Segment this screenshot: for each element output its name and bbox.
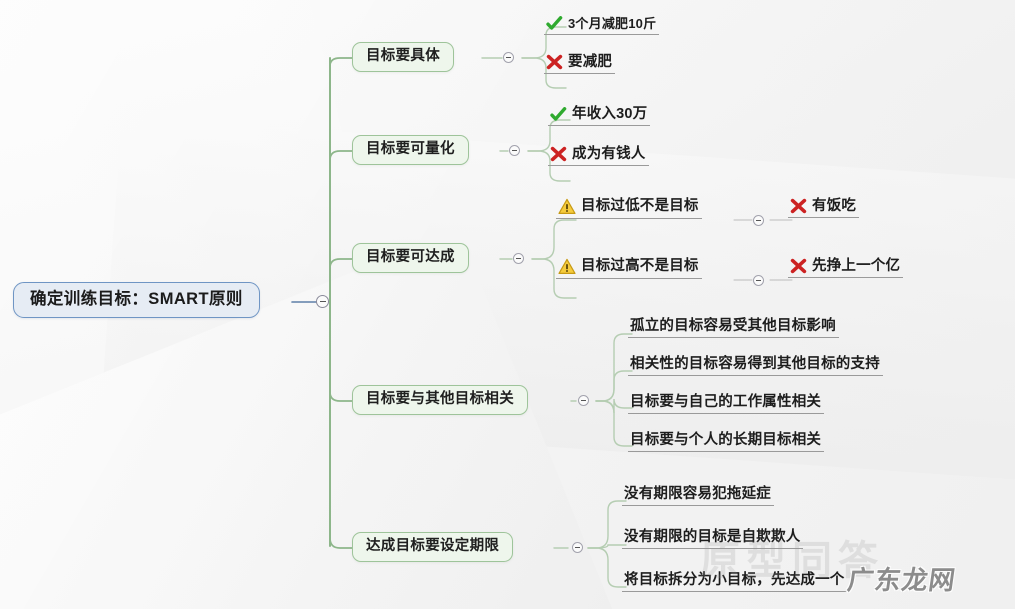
leaf-label: 要减肥 <box>568 55 612 70</box>
leaf-node[interactable]: 有饭吃 <box>788 197 859 218</box>
mindmap-canvas: 确定训练目标：SMART原则 目标要具体 3个月减肥10斤 要减肥 目标要可量化 <box>0 0 1015 609</box>
leaf-node[interactable]: 目标过低不是目标 <box>556 197 702 219</box>
leaf-label: 目标过高不是目标 <box>581 259 699 274</box>
cross-icon <box>790 258 807 274</box>
leaf-collapse-toggle[interactable] <box>753 215 764 226</box>
minus-icon <box>756 220 761 221</box>
cross-icon <box>790 198 807 214</box>
root-collapse-toggle[interactable] <box>316 295 329 308</box>
minus-icon <box>506 57 511 58</box>
minus-icon <box>581 400 586 401</box>
branch-label: 目标要具体 <box>366 49 440 64</box>
leaf-node[interactable]: 年收入30万 <box>548 106 650 126</box>
branch-node-time-bound[interactable]: 达成目标要设定期限 <box>352 532 513 562</box>
leaf-node[interactable]: 成为有钱人 <box>548 145 649 166</box>
warning-icon <box>558 258 576 275</box>
minus-icon <box>575 547 580 548</box>
leaf-node[interactable]: 孤立的目标容易受其他目标影响 <box>628 318 839 338</box>
branch-collapse-toggle-specific[interactable] <box>503 52 514 63</box>
leaf-label: 目标要与自己的工作属性相关 <box>630 395 821 410</box>
leaf-node[interactable]: 要减肥 <box>544 53 615 74</box>
branch-label: 目标要可达成 <box>366 250 455 265</box>
leaf-label: 没有期限的目标是自欺欺人 <box>624 530 800 545</box>
check-icon <box>546 16 563 31</box>
leaf-label: 先挣上一个亿 <box>812 259 900 274</box>
branch-collapse-toggle-relevant[interactable] <box>578 395 589 406</box>
branch-node-relevant[interactable]: 目标要与其他目标相关 <box>352 385 528 415</box>
branch-label: 达成目标要设定期限 <box>366 539 499 554</box>
minus-icon <box>516 258 521 259</box>
leaf-label: 目标过低不是目标 <box>581 199 699 214</box>
leaf-label: 将目标拆分为小目标，先达成一个 <box>624 573 845 588</box>
leaf-node[interactable]: 3个月减肥10斤 <box>544 15 659 35</box>
minus-icon <box>320 301 326 302</box>
leaf-node[interactable]: 将目标拆分为小目标，先达成一个 <box>622 572 848 592</box>
root-node[interactable]: 确定训练目标：SMART原则 <box>13 282 260 318</box>
leaf-node[interactable]: 相关性的目标容易得到其他目标的支持 <box>628 356 883 376</box>
leaf-label: 3个月减肥10斤 <box>568 17 656 30</box>
leaf-node[interactable]: 目标过高不是目标 <box>556 257 702 279</box>
leaf-node[interactable]: 没有期限容易犯拖延症 <box>622 486 774 506</box>
leaf-node[interactable]: 没有期限的目标是自欺欺人 <box>622 529 803 549</box>
warning-icon <box>558 198 576 215</box>
branch-collapse-toggle-time-bound[interactable] <box>572 542 583 553</box>
minus-icon <box>756 280 761 281</box>
leaf-node[interactable]: 目标要与自己的工作属性相关 <box>628 394 824 414</box>
branch-node-specific[interactable]: 目标要具体 <box>352 42 454 72</box>
branch-label: 目标要与其他目标相关 <box>366 392 514 407</box>
leaf-label: 成为有钱人 <box>572 147 646 162</box>
leaf-label: 年收入30万 <box>572 107 647 122</box>
branch-collapse-toggle-attainable[interactable] <box>513 253 524 264</box>
check-icon <box>550 107 567 122</box>
leaf-label: 有饭吃 <box>812 199 856 214</box>
branch-label: 目标要可量化 <box>366 142 455 157</box>
leaf-label: 目标要与个人的长期目标相关 <box>630 433 821 448</box>
branch-node-measurable[interactable]: 目标要可量化 <box>352 135 469 165</box>
cross-icon <box>546 54 563 70</box>
minus-icon <box>512 150 517 151</box>
root-node-label: 确定训练目标：SMART原则 <box>30 291 243 308</box>
leaf-label: 孤立的目标容易受其他目标影响 <box>630 319 836 334</box>
branch-node-attainable[interactable]: 目标要可达成 <box>352 243 469 273</box>
leaf-label: 相关性的目标容易得到其他目标的支持 <box>630 357 880 372</box>
leaf-collapse-toggle[interactable] <box>753 275 764 286</box>
leaf-node[interactable]: 目标要与个人的长期目标相关 <box>628 432 824 452</box>
leaf-node[interactable]: 先挣上一个亿 <box>788 257 903 278</box>
leaf-label: 没有期限容易犯拖延症 <box>624 487 771 502</box>
cross-icon <box>550 146 567 162</box>
branch-collapse-toggle-measurable[interactable] <box>509 145 520 156</box>
